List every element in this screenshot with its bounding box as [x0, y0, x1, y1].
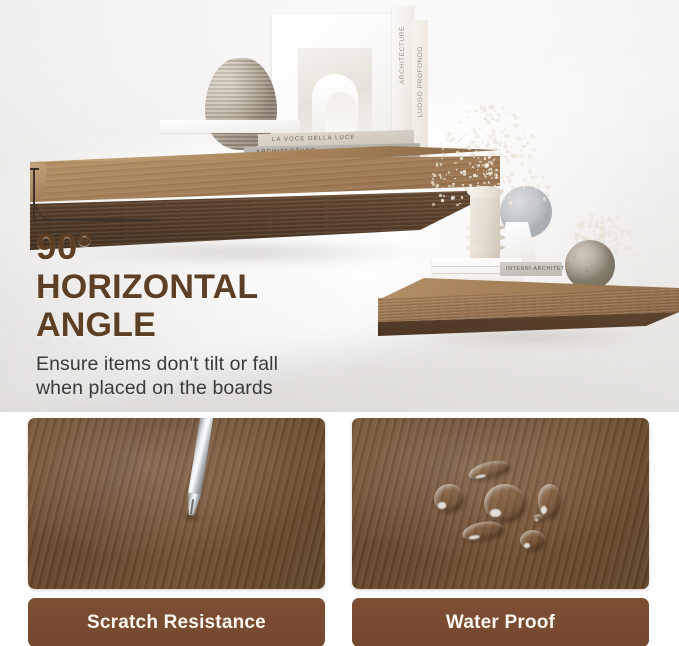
water-droplet-3 — [484, 484, 526, 522]
pedestal-ring-1 — [465, 224, 505, 231]
shelf-top-drop-shadow — [54, 242, 484, 268]
headline-line-1: 90º — [36, 227, 91, 267]
scratch-resistance-photo — [28, 418, 325, 589]
floating-shelf-bottom — [378, 278, 679, 340]
pedestal-vase-mouth — [467, 186, 503, 198]
subtitle-line-1: Ensure items don't tilt or fall — [36, 351, 278, 377]
right-angle-marker — [33, 168, 163, 230]
water-proof-photo — [352, 418, 649, 589]
book-spine-vertical-1: ARCHITECTURE — [399, 26, 406, 84]
feature-panel-water-proof: Water Proof — [352, 418, 649, 589]
water-proof-label: Water Proof — [352, 598, 649, 646]
screwdriver-shaft — [188, 418, 214, 498]
subtitle-line-2: when placed on the boards — [36, 375, 273, 401]
book-spine-vertical-2: LUOGO PROFONDO — [417, 46, 424, 117]
decor-gray-book: INTERNI ARCHITETTURA — [500, 262, 562, 276]
product-feature-image: ARCHITECTURE LUOGO PROFONDO LA VOCE DELL… — [0, 0, 679, 646]
hero-scene: ARCHITECTURE LUOGO PROFONDO LA VOCE DELL… — [0, 0, 679, 412]
pedestal-ring-2 — [465, 234, 505, 241]
headline-line-2: HORIZONTAL — [36, 268, 258, 306]
angle-marker-vertical-line — [33, 168, 35, 220]
water-droplet-4 — [538, 484, 561, 518]
decor-stacked-book-1 — [160, 120, 300, 133]
pedestal-ring-3 — [465, 244, 505, 251]
angle-marker-arc-icon — [36, 204, 52, 220]
headline-line-3: ANGLE — [36, 306, 156, 344]
feature-panels: Scratch Resistance Water Proof — [0, 412, 679, 646]
feature-panel-scratch-resistance: Scratch Resistance — [28, 418, 325, 589]
water-droplet-7 — [534, 514, 543, 522]
shelf-bottom-drop-shadow — [388, 330, 668, 348]
scratch-resistance-label: Scratch Resistance — [28, 598, 325, 646]
